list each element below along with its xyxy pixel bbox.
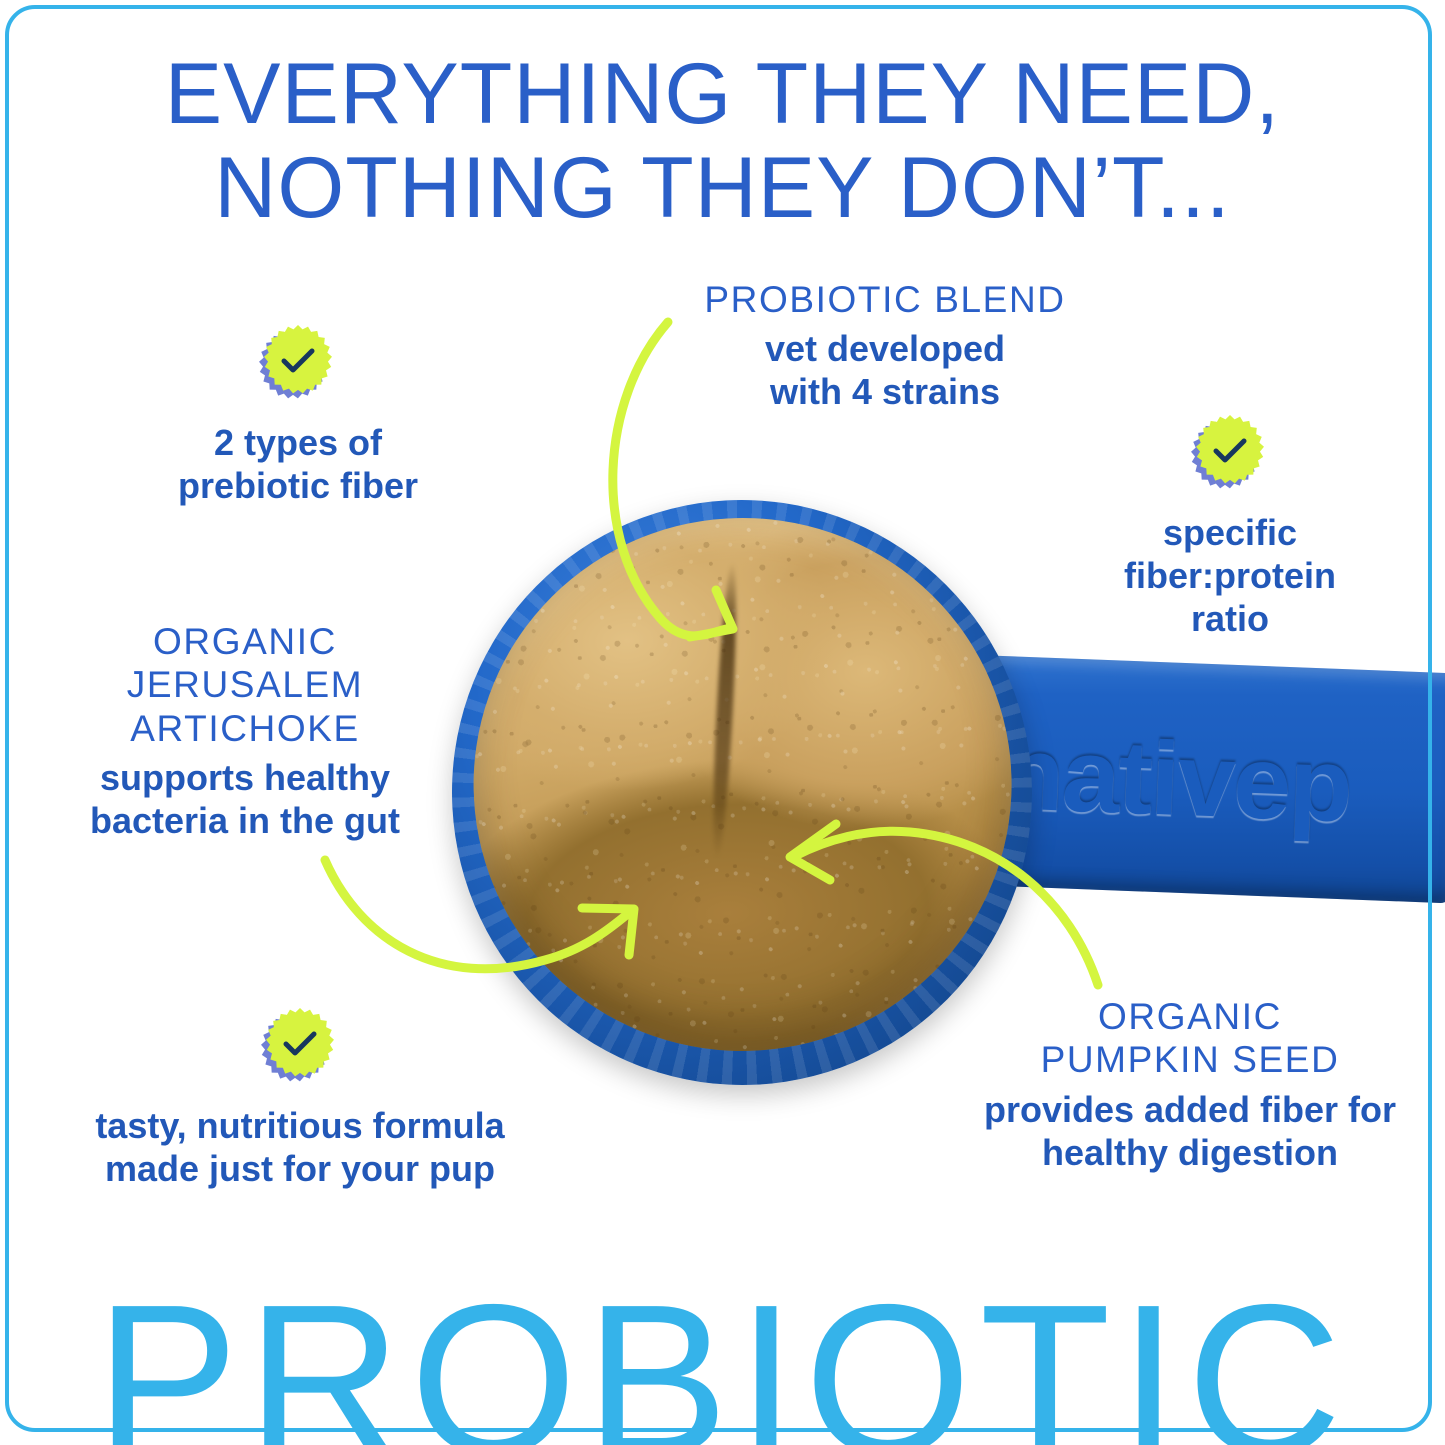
scoop-handle-brand-text: nativep <box>999 714 1353 846</box>
check-icon <box>283 1030 317 1058</box>
powder-grain-texture <box>460 504 1025 1064</box>
callout-body: supports healthy bacteria in the gut <box>40 756 450 842</box>
callout-jerusalem-artichoke: ORGANIC JERUSALEM ARTICHOKE supports hea… <box>40 620 450 842</box>
callout-body: tasty, nutritious formula made just for … <box>60 1104 540 1190</box>
headline-line-1: EVERYTHING THEY NEED, <box>0 52 1445 136</box>
callout-title: PROBIOTIC BLEND <box>655 278 1115 321</box>
page-title: EVERYTHING THEY NEED, NOTHING THEY DON’T… <box>0 52 1445 231</box>
callout-tasty-formula: tasty, nutritious formula made just for … <box>60 1008 540 1190</box>
callout-title: ORGANIC JERUSALEM ARTICHOKE <box>40 620 450 750</box>
callout-body: 2 types of prebiotic fiber <box>128 421 468 507</box>
headline-line-2: NOTHING THEY DON’T... <box>0 146 1445 230</box>
scoop-handle: nativep <box>971 655 1445 903</box>
arrow-head-pumpkin-seed <box>790 824 836 880</box>
verified-badge-icon <box>1194 415 1266 487</box>
powder-crevice <box>709 561 741 860</box>
arrow-head-jerusalem-artichoke <box>582 908 634 955</box>
curved-arrow-icon-jerusalem-artichoke <box>325 860 630 969</box>
check-icon <box>281 347 315 375</box>
callout-prebiotic-fiber: 2 types of prebiotic fiber <box>128 325 468 507</box>
callout-pumpkin-seed: ORGANIC PUMPKIN SEED provides added fibe… <box>955 995 1425 1174</box>
verified-badge-icon <box>262 325 334 397</box>
infographic-poster: EVERYTHING THEY NEED, NOTHING THEY DON’T… <box>0 0 1445 1445</box>
callout-body: specific fiber:protein ratio <box>1035 511 1425 641</box>
callout-body: provides added fiber for healthy digesti… <box>955 1088 1425 1174</box>
curved-arrow-icon-pumpkin-seed <box>795 831 1098 985</box>
arrow-head-probiotic-blend <box>690 590 733 637</box>
verified-badge-icon <box>264 1008 336 1080</box>
probiotic-powder <box>460 504 1025 1064</box>
callout-fiber-protein-ratio: specific fiber:protein ratio <box>1035 415 1425 641</box>
callout-title: ORGANIC PUMPKIN SEED <box>955 995 1425 1082</box>
bottom-wordmark: PROBIOTIC <box>95 1272 1350 1445</box>
callout-body: vet developed with 4 strains <box>655 327 1115 413</box>
check-icon <box>1213 437 1247 465</box>
callout-probiotic-blend: PROBIOTIC BLEND vet developed with 4 str… <box>655 278 1115 414</box>
